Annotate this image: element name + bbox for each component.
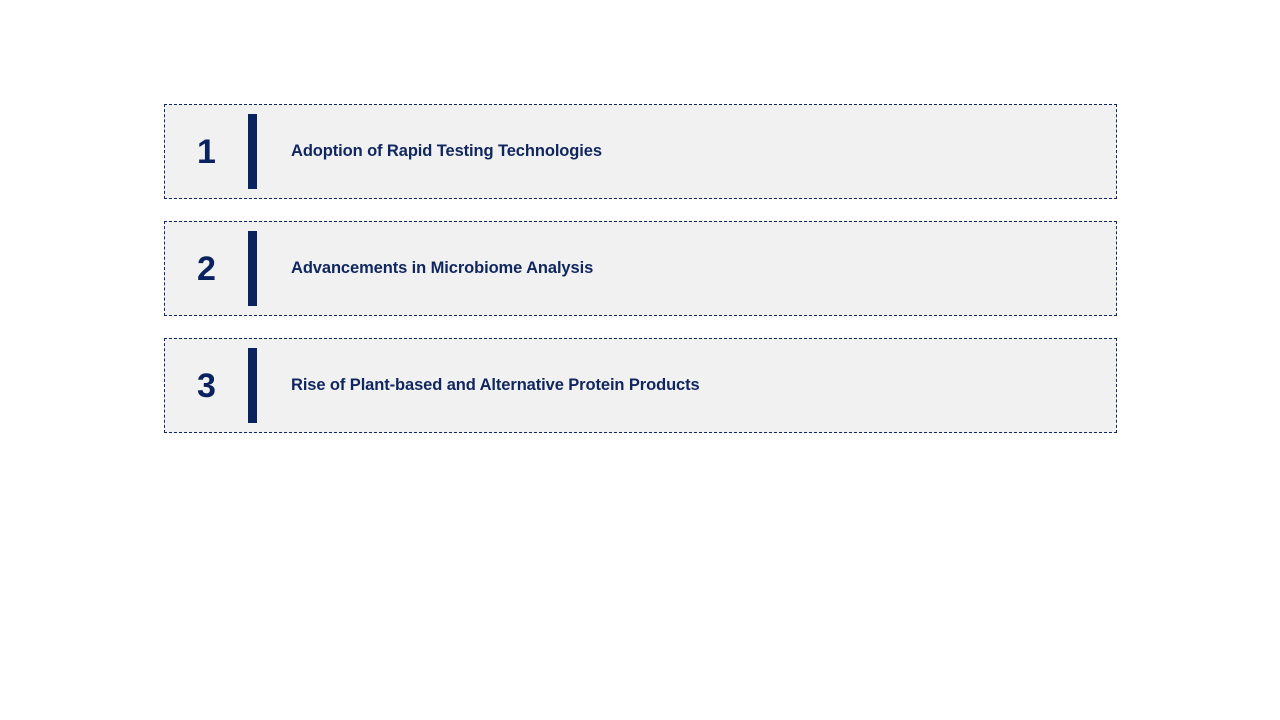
accent-bar-icon — [248, 231, 257, 306]
trend-title: Rise of Plant-based and Alternative Prot… — [291, 376, 700, 396]
rank-number: 1 — [197, 135, 216, 169]
rank-cell: 1 — [165, 105, 248, 198]
rank-number: 2 — [197, 252, 216, 286]
title-cell: Adoption of Rapid Testing Technologies — [274, 105, 1116, 198]
accent-cell — [248, 339, 274, 432]
trend-title: Advancements in Microbiome Analysis — [291, 259, 593, 279]
accent-cell — [248, 222, 274, 315]
title-cell: Advancements in Microbiome Analysis — [274, 222, 1116, 315]
trend-title: Adoption of Rapid Testing Technologies — [291, 142, 602, 162]
accent-cell — [248, 105, 274, 198]
trend-list: 1 Adoption of Rapid Testing Technologies… — [164, 104, 1117, 433]
rank-cell: 3 — [165, 339, 248, 432]
rank-number: 3 — [197, 369, 216, 403]
trend-card[interactable]: 2 Advancements in Microbiome Analysis — [164, 221, 1117, 316]
title-cell: Rise of Plant-based and Alternative Prot… — [274, 339, 1116, 432]
accent-bar-icon — [248, 348, 257, 423]
trend-card[interactable]: 1 Adoption of Rapid Testing Technologies — [164, 104, 1117, 199]
trend-card[interactable]: 3 Rise of Plant-based and Alternative Pr… — [164, 338, 1117, 433]
accent-bar-icon — [248, 114, 257, 189]
rank-cell: 2 — [165, 222, 248, 315]
